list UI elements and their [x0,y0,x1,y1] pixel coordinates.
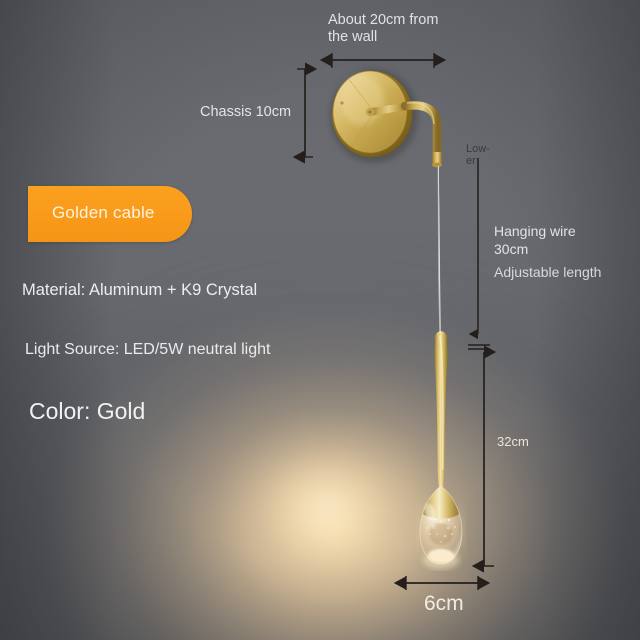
golden-cable-badge-label: Golden cable [52,203,155,223]
label-drop-width-6cm: 6cm [424,592,464,616]
label-lower: Low- er [466,144,494,167]
dimension-lines [0,0,640,640]
spec-material: Material: Aluminum + K9 Crystal [22,281,257,300]
label-adjustable-length: Adjustable length [494,264,601,280]
label-hanging-wire: Hanging wire 30cm [494,222,624,258]
spec-light-source: Light Source: LED/5W neutral light [25,341,270,359]
label-chassis-10cm: Chassis 10cm [200,104,291,120]
label-projection-20cm: About 20cm from the wall [328,12,478,46]
spec-color: Color: Gold [29,398,145,425]
label-drop-height-32cm: 32cm [497,434,529,449]
product-diagram: About 20cm from the wall Chassis 10cm Lo… [0,0,640,640]
